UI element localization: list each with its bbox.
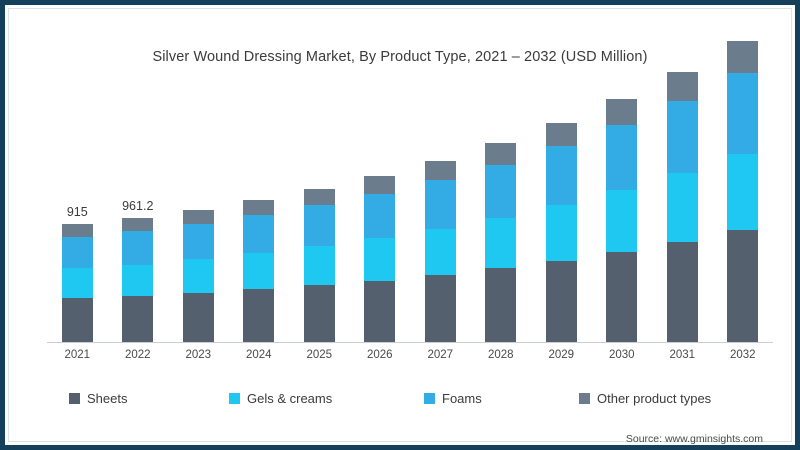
bar-segment-sheets[interactable]: [122, 296, 153, 342]
bar-segment-sheets[interactable]: [62, 298, 93, 342]
bar-column-2023[interactable]: [183, 210, 214, 342]
bar-segment-foams[interactable]: [606, 125, 637, 190]
legend-item-gels-creams[interactable]: Gels & creams: [229, 391, 332, 406]
bar-column-2029[interactable]: [546, 123, 577, 342]
bar-segment-foams[interactable]: [667, 101, 698, 173]
legend-label-gels-creams: Gels & creams: [247, 391, 332, 406]
bar-segment-other-product-types[interactable]: [606, 99, 637, 125]
bar-segment-other-product-types[interactable]: [425, 161, 456, 180]
bar-segment-other-product-types[interactable]: [62, 224, 93, 237]
x-axis-baseline: [47, 342, 773, 343]
x-tick-label-2027: 2027: [410, 349, 471, 361]
bar-segment-other-product-types[interactable]: [485, 143, 516, 164]
stacked-bar[interactable]: 915: [62, 224, 93, 342]
x-axis-ticks: 2021202220232024202520262027202820292030…: [47, 349, 773, 367]
bar-segment-other-product-types[interactable]: [667, 72, 698, 101]
legend-item-sheets[interactable]: Sheets: [69, 391, 127, 406]
x-tick-label-2024: 2024: [229, 349, 290, 361]
bar-segment-sheets[interactable]: [183, 293, 214, 342]
bar-segment-gels-creams[interactable]: [727, 154, 758, 230]
bar-segment-gels-creams[interactable]: [667, 173, 698, 242]
legend-label-sheets: Sheets: [87, 391, 127, 406]
bar-segment-foams[interactable]: [122, 231, 153, 264]
bar-segment-sheets[interactable]: [546, 261, 577, 342]
source-attribution: Source: www.gminsights.com: [626, 433, 763, 445]
x-tick-label-2032: 2032: [713, 349, 774, 361]
bar-segment-other-product-types[interactable]: [304, 189, 335, 205]
bar-segment-gels-creams[interactable]: [62, 268, 93, 298]
bar-column-2024[interactable]: [243, 200, 274, 342]
stacked-bar[interactable]: [183, 210, 214, 342]
legend-label-foams: Foams: [442, 391, 482, 406]
chart-legend: SheetsGels & creamsFoamsOther product ty…: [69, 387, 751, 409]
bar-segment-other-product-types[interactable]: [727, 41, 758, 73]
stacked-bar[interactable]: [727, 41, 758, 342]
bar-value-label-2021: 915: [67, 205, 88, 219]
bar-segment-foams[interactable]: [485, 165, 516, 218]
bar-segment-foams[interactable]: [62, 237, 93, 269]
bar-column-2025[interactable]: [304, 189, 335, 342]
legend-swatch-sheets: [69, 393, 80, 404]
bar-segment-gels-creams[interactable]: [122, 265, 153, 296]
x-tick-label-2021: 2021: [47, 349, 108, 361]
x-tick-label-2025: 2025: [289, 349, 350, 361]
bar-segment-foams[interactable]: [364, 194, 395, 238]
legend-swatch-foams: [424, 393, 435, 404]
bar-column-2030[interactable]: [606, 99, 637, 342]
bar-value-label-2022: 961.2: [122, 199, 153, 213]
stacked-bar[interactable]: [304, 189, 335, 342]
plot-area: 915961.2: [47, 97, 773, 342]
x-tick-label-2022: 2022: [108, 349, 169, 361]
chart-inner-border: Silver Wound Dressing Market, By Product…: [8, 8, 792, 442]
bar-segment-gels-creams[interactable]: [546, 205, 577, 261]
bar-segment-sheets[interactable]: [727, 230, 758, 342]
x-tick-label-2029: 2029: [531, 349, 592, 361]
bar-column-2026[interactable]: [364, 176, 395, 342]
bar-segment-gels-creams[interactable]: [304, 246, 335, 285]
bar-segment-gels-creams[interactable]: [243, 253, 274, 289]
bar-segment-sheets[interactable]: [364, 281, 395, 343]
chart-title: Silver Wound Dressing Market, By Product…: [9, 49, 791, 65]
legend-swatch-gels-creams: [229, 393, 240, 404]
bar-segment-gels-creams[interactable]: [485, 218, 516, 268]
bar-segment-gels-creams[interactable]: [183, 259, 214, 293]
bar-segment-foams[interactable]: [727, 73, 758, 154]
bar-segment-other-product-types[interactable]: [546, 123, 577, 146]
bar-segment-sheets[interactable]: [606, 252, 637, 342]
bar-segment-sheets[interactable]: [667, 242, 698, 342]
bar-segment-foams[interactable]: [243, 215, 274, 253]
bar-segment-other-product-types[interactable]: [364, 176, 395, 194]
bar-column-2028[interactable]: [485, 143, 516, 342]
bar-segment-other-product-types[interactable]: [183, 210, 214, 224]
bar-column-2021[interactable]: 915: [62, 224, 93, 342]
stacked-bar[interactable]: 961.2: [122, 218, 153, 342]
x-tick-label-2030: 2030: [592, 349, 653, 361]
stacked-bar[interactable]: [425, 161, 456, 342]
stacked-bar[interactable]: [485, 143, 516, 342]
bar-segment-other-product-types[interactable]: [122, 218, 153, 231]
bar-segment-gels-creams[interactable]: [606, 190, 637, 252]
chart-frame: Silver Wound Dressing Market, By Product…: [0, 0, 800, 450]
bar-segment-gels-creams[interactable]: [364, 238, 395, 280]
bar-segment-gels-creams[interactable]: [425, 229, 456, 275]
bar-column-2031[interactable]: [667, 72, 698, 342]
x-tick-label-2031: 2031: [652, 349, 713, 361]
bar-segment-other-product-types[interactable]: [243, 200, 274, 215]
bar-segment-sheets[interactable]: [243, 289, 274, 342]
bar-segment-foams[interactable]: [304, 205, 335, 246]
stacked-bar[interactable]: [364, 176, 395, 342]
bar-segment-foams[interactable]: [425, 180, 456, 228]
bar-segment-sheets[interactable]: [425, 275, 456, 342]
stacked-bar[interactable]: [546, 123, 577, 342]
stacked-bar[interactable]: [667, 72, 698, 342]
legend-item-foams[interactable]: Foams: [424, 391, 482, 406]
legend-item-other-product-types[interactable]: Other product types: [579, 391, 711, 406]
x-tick-label-2028: 2028: [471, 349, 532, 361]
bar-column-2032[interactable]: [727, 41, 758, 342]
bar-column-2022[interactable]: 961.2: [122, 218, 153, 342]
x-tick-label-2026: 2026: [350, 349, 411, 361]
bar-segment-foams[interactable]: [183, 224, 214, 259]
stacked-bar[interactable]: [243, 200, 274, 342]
stacked-bar[interactable]: [606, 99, 637, 342]
bar-segment-foams[interactable]: [546, 146, 577, 205]
legend-swatch-other-product-types: [579, 393, 590, 404]
x-tick-label-2023: 2023: [168, 349, 229, 361]
bar-segment-sheets[interactable]: [304, 285, 335, 342]
bar-segment-sheets[interactable]: [485, 268, 516, 342]
legend-label-other-product-types: Other product types: [597, 391, 711, 406]
bar-column-2027[interactable]: [425, 161, 456, 342]
